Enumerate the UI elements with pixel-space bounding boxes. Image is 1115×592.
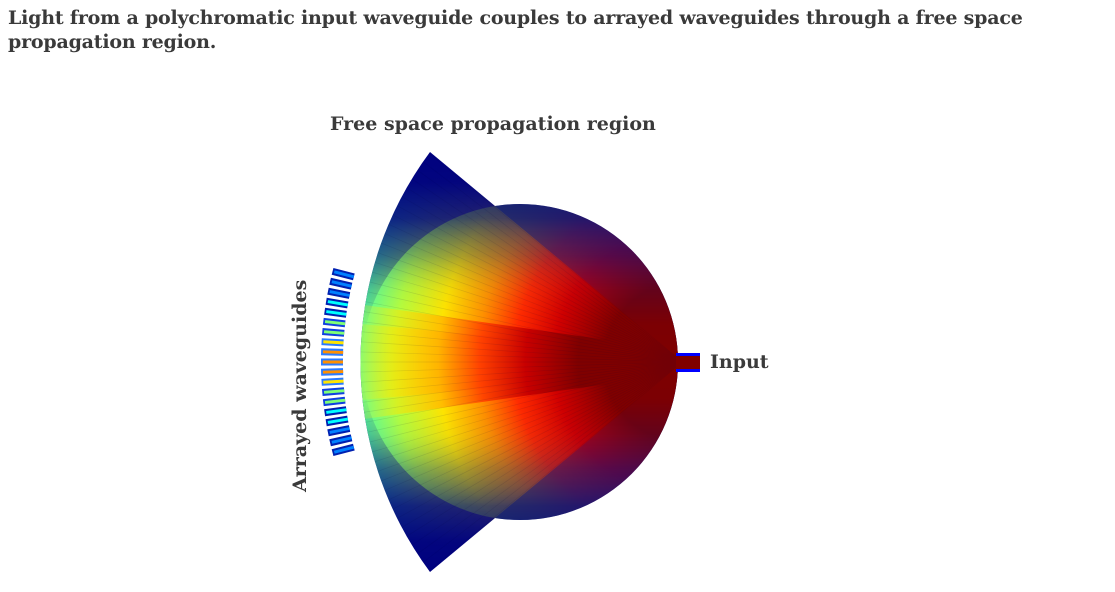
arrayed-waveguide-stub (327, 288, 350, 299)
arrayed-waveguide-stub (329, 278, 352, 290)
arrayed-waveguide-stub (321, 348, 343, 356)
label-arrayed-waveguides: Arrayed waveguides (289, 280, 311, 492)
arrayed-waveguide-stub (323, 318, 346, 327)
stub-core (323, 370, 343, 374)
arrayed-waveguide-stub (324, 406, 347, 416)
arrayed-waveguide-stub (324, 308, 347, 318)
label-input: Input (710, 351, 769, 373)
arrayed-waveguide-stub (332, 268, 355, 280)
arrayed-waveguide-stub (326, 298, 349, 309)
arrayed-waveguide-stub (322, 328, 345, 337)
arrayed-waveguide-stub (321, 368, 343, 376)
input-waveguide (676, 353, 700, 372)
arrayed-waveguide-stubs (321, 268, 355, 456)
arrayed-waveguide-stub (321, 338, 343, 346)
arrayed-waveguide-stub (327, 425, 350, 436)
arrayed-waveguide-stub (323, 397, 346, 406)
arrayed-waveguide-stub (326, 416, 349, 427)
arrayed-waveguide-stub (322, 387, 345, 396)
figure-caption: Light from a polychromatic input wavegui… (8, 6, 1108, 55)
beam-group-circle (320, 0, 720, 592)
stub-core (323, 350, 343, 354)
arrayed-waveguide-stub (329, 434, 352, 446)
awg-free-space-propagation-figure (0, 0, 1115, 592)
stub-core (323, 361, 343, 364)
arrayed-waveguide-stub (321, 378, 343, 386)
label-free-space-propagation-region: Free space propagation region (330, 113, 656, 135)
arrayed-waveguide-stub (332, 444, 355, 456)
arrayed-waveguide-stub (321, 359, 343, 366)
